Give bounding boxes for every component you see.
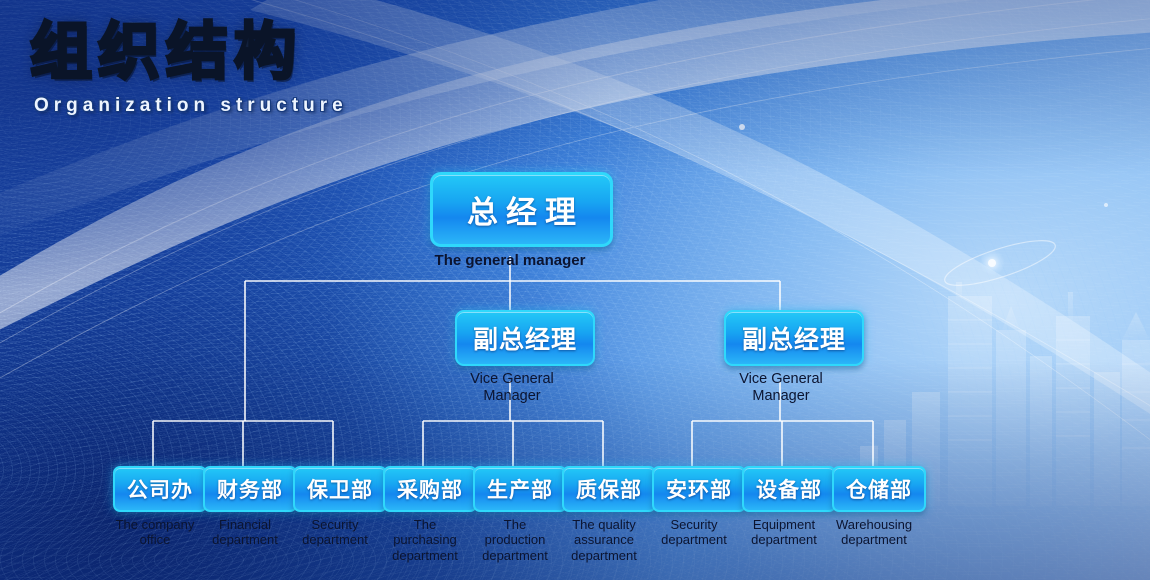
node-department-purchasing[interactable]: 采购部 The purchasing department	[383, 466, 467, 563]
node-label-cn: 采购部	[383, 466, 477, 512]
page-subtitle: Organization structure	[34, 95, 348, 117]
node-department-company-office[interactable]: 公司办 The company office	[113, 466, 197, 548]
node-label-cn: 副总经理	[455, 310, 595, 366]
node-department-safety-environment[interactable]: 安环部 Security department	[652, 466, 736, 548]
node-label-cn: 副总经理	[724, 310, 864, 366]
node-department-quality-assurance[interactable]: 质保部 The quality assurance department	[562, 466, 646, 563]
node-label-en: Security department	[652, 517, 736, 548]
node-label-en: The purchasing department	[383, 517, 467, 563]
page-title: 组织结构	[30, 20, 348, 85]
node-label-cn: 公司办	[113, 466, 207, 512]
node-label-en: The production department	[473, 517, 557, 563]
org-chart-poster: 组织结构 Organization structure 总经理 The gen	[0, 0, 1150, 580]
node-label-en: The quality assurance department	[562, 517, 646, 563]
node-label-en: Warehousing department	[832, 517, 916, 548]
node-label-cn: 安环部	[652, 466, 746, 512]
node-vice-general-manager-2[interactable]: 副总经理 Vice General Manager	[724, 310, 838, 405]
node-label-en: The general manager	[430, 252, 590, 270]
node-department-production[interactable]: 生产部 The production department	[473, 466, 557, 563]
node-general-manager[interactable]: 总经理 The general manager	[430, 172, 590, 270]
node-label-cn: 财务部	[203, 466, 297, 512]
node-label-cn: 质保部	[562, 466, 656, 512]
node-label-cn: 生产部	[473, 466, 567, 512]
node-label-cn: 仓储部	[832, 466, 926, 512]
node-label-en: Security department	[293, 517, 377, 548]
node-label-cn: 保卫部	[293, 466, 387, 512]
node-department-warehousing[interactable]: 仓储部 Warehousing department	[832, 466, 916, 548]
node-label-en: Equipment department	[742, 517, 826, 548]
node-label-cn: 设备部	[742, 466, 836, 512]
node-vice-general-manager-1[interactable]: 副总经理 Vice General Manager	[455, 310, 569, 405]
node-label-en: Vice General Manager	[724, 371, 838, 405]
node-department-equipment[interactable]: 设备部 Equipment department	[742, 466, 826, 548]
node-label-en: The company office	[113, 517, 197, 548]
node-label-en: Vice General Manager	[455, 371, 569, 405]
node-label-en: Financial department	[203, 517, 287, 548]
node-department-security-guard[interactable]: 保卫部 Security department	[293, 466, 377, 548]
node-department-financial[interactable]: 财务部 Financial department	[203, 466, 287, 548]
poster-title-block: 组织结构 Organization structure	[30, 20, 348, 117]
node-label-cn: 总经理	[430, 172, 613, 247]
